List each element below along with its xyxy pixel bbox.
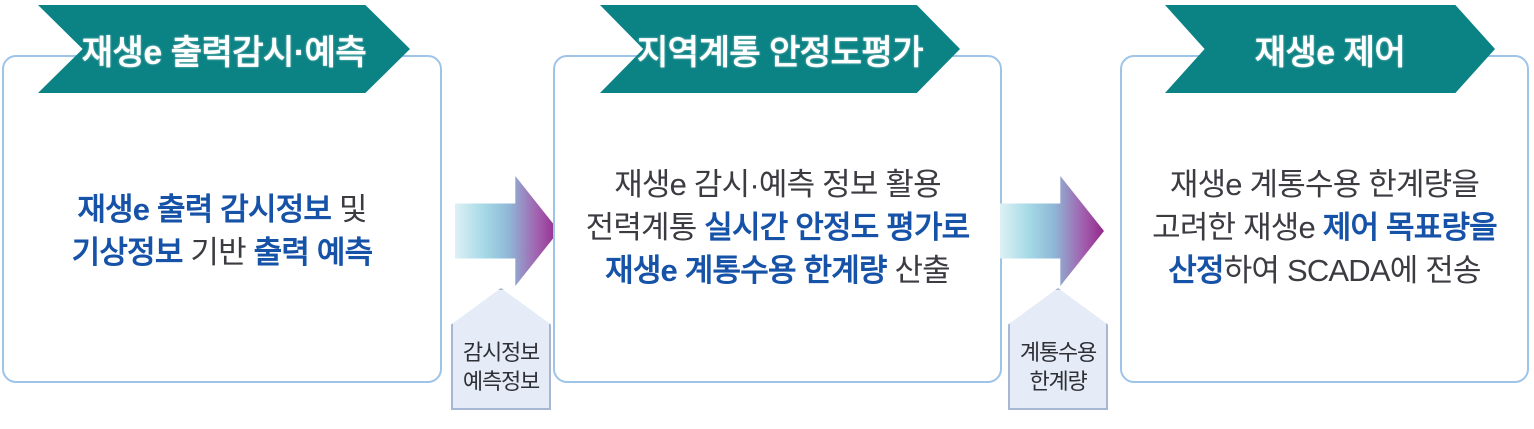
body-text-line: 전력계통 실시간 안정도 평가로: [553, 206, 1002, 249]
stage-header-banner-3: 재생e 제어: [1165, 5, 1495, 93]
body-text-line: 재생e 감시·예측 정보 활용: [553, 163, 1002, 206]
connector-label-1: 감시정보 예측정보: [451, 288, 551, 410]
body-text-highlight: 제어 목표량을: [1323, 210, 1497, 245]
right-arrow-icon-1: [455, 176, 559, 286]
connector-label-2-line-2: 한계량: [1029, 367, 1086, 396]
stage-header-label-2: 지역계통 안정도평가: [637, 25, 923, 74]
body-text-line: 재생e 계통수용 한계량을: [1120, 163, 1529, 206]
body-text-plain: 산출: [887, 253, 950, 288]
body-text-plain: 하여 SCADA에 전송: [1224, 253, 1481, 288]
stage-header-label-1: 재생e 출력감시·예측: [82, 25, 366, 74]
process-flow-diagram: 재생e 출력감시·예측 재생e 출력 감시정보 및기상정보 기반 출력 예측 감…: [0, 0, 1534, 429]
body-text-highlight: 재생e 출력 감시정보: [77, 192, 331, 227]
body-text-highlight: 기상정보: [72, 235, 183, 270]
body-text-highlight: 출력 예측: [254, 235, 373, 270]
body-text-plain: 기반: [183, 235, 254, 270]
body-text-plain: 재생e 감시·예측 정보 활용: [614, 167, 941, 202]
stage-body-3: 재생e 계통수용 한계량을고려한 재생e 제어 목표량을산정하여 SCADA에 …: [1120, 163, 1529, 292]
body-text-line: 재생e 계통수용 한계량 산출: [553, 249, 1002, 292]
body-text-line: 고려한 재생e 제어 목표량을: [1120, 206, 1529, 249]
connector-label-2: 계통수용 한계량: [1008, 288, 1108, 410]
body-text-plain: 재생e 계통수용 한계량을: [1170, 167, 1479, 202]
body-text-highlight: 재생e 계통수용 한계량: [605, 253, 887, 288]
right-arrow-icon-2: [1000, 176, 1104, 286]
connector-label-1-line-2: 예측정보: [463, 367, 539, 396]
connector-label-2-line-1: 계통수용: [1020, 338, 1096, 367]
stage-header-label-3: 재생e 제어: [1255, 25, 1405, 74]
body-text-highlight: 실시간 안정도 평가로: [704, 210, 969, 245]
body-text-line: 기상정보 기반 출력 예측: [2, 231, 442, 274]
stage-body-1: 재생e 출력 감시정보 및기상정보 기반 출력 예측: [2, 188, 442, 274]
body-text-highlight: 산정: [1168, 253, 1223, 288]
stage-header-banner-2: 지역계통 안정도평가: [600, 5, 960, 93]
body-text-line: 재생e 출력 감시정보 및: [2, 188, 442, 231]
body-text-line: 산정하여 SCADA에 전송: [1120, 249, 1529, 292]
body-text-plain: 전력계통: [586, 210, 705, 245]
stage-body-2: 재생e 감시·예측 정보 활용전력계통 실시간 안정도 평가로재생e 계통수용 …: [553, 163, 1002, 292]
body-text-plain: 및: [331, 192, 367, 227]
connector-label-1-line-1: 감시정보: [463, 338, 539, 367]
body-text-plain: 고려한 재생e: [1152, 210, 1323, 245]
stage-header-banner-1: 재생e 출력감시·예측: [38, 5, 410, 93]
